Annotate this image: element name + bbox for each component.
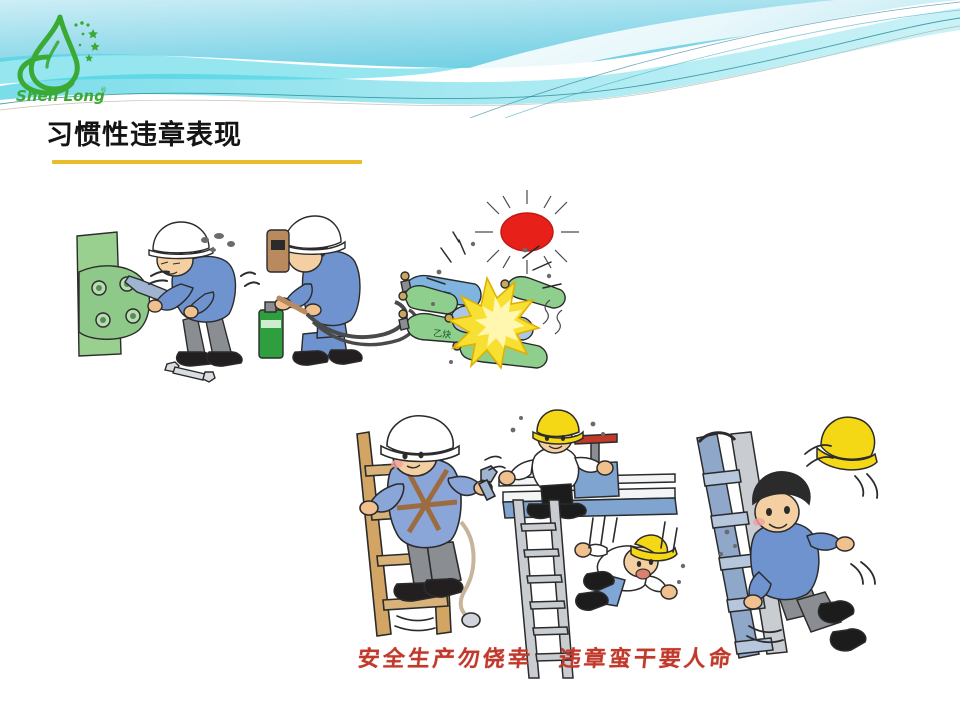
page-title: 习惯性违章表现: [46, 113, 242, 152]
title-underline-rule: [52, 160, 362, 164]
logo-trademark: ®: [100, 86, 107, 94]
stars-decoration: [74, 21, 99, 61]
decorative-wave-banner: [0, 0, 960, 118]
shen-long-logo[interactable]: Shen Long ®: [14, 12, 118, 104]
logo-wordmark: Shen Long: [16, 87, 105, 104]
slogan-left: 安全生产勿侥幸: [356, 646, 534, 672]
safety-slogan-caption: 安全生产勿侥幸违章蛮干要人命: [356, 641, 769, 673]
illegal-operation-illustration: 氧气 乙炔: [55, 184, 579, 389]
slogan-right: 违章蛮干要人命: [557, 646, 735, 672]
slide-canvas: Shen Long ® 习惯性违章表现: [0, 0, 960, 720]
